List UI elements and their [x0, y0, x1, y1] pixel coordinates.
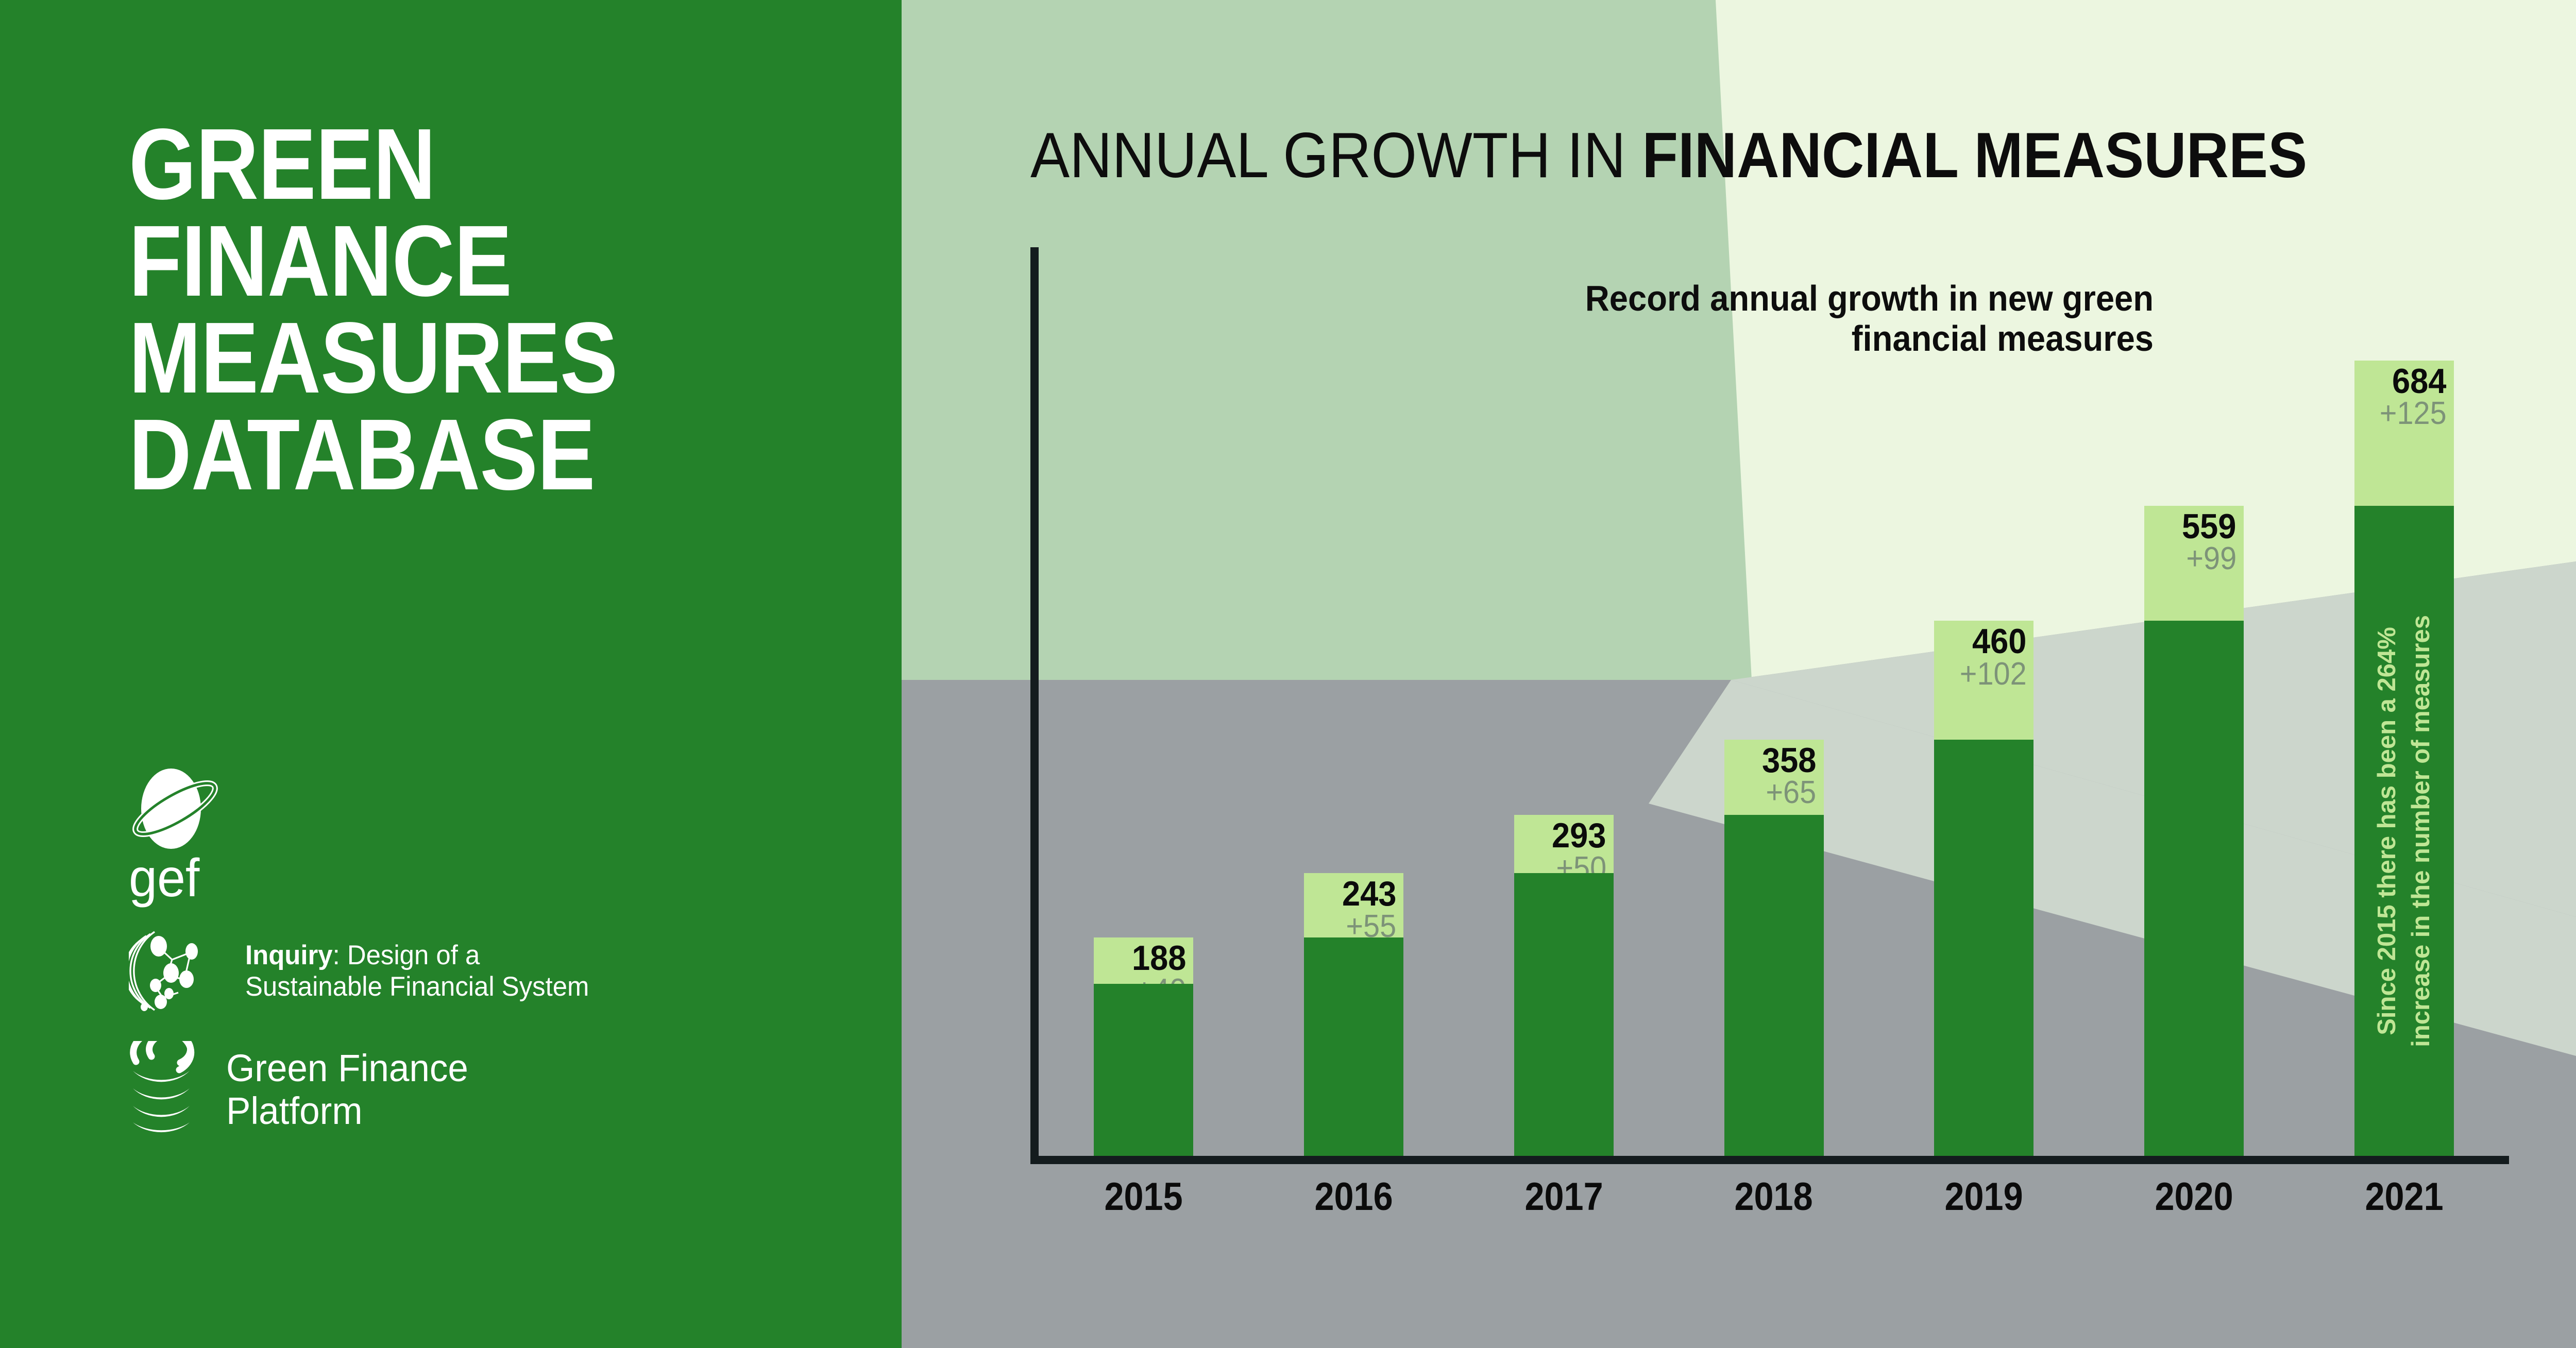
page-title: GREEN FINANCE MEASURES DATABASE: [129, 116, 793, 504]
bar-total-label-2017: 293: [1552, 819, 1606, 852]
x-tick-slot-2019: 2019: [1879, 1174, 2089, 1219]
bar-segment-base-2019: [1934, 740, 2033, 1156]
page-title-line-4: DATABASE: [129, 406, 793, 503]
bar-delta-label-2019: +102: [1959, 658, 2026, 690]
inquiry-logo: Inquiry: Design of a Sustainable Financi…: [129, 930, 850, 1012]
inquiry-rest: : Design of a: [333, 940, 480, 970]
bar-2020[interactable]: 559+99: [2144, 506, 2244, 1156]
green-finance-platform-logo: Green Finance Platform: [129, 1041, 850, 1139]
bar-segment-new-2017: 293+50: [1514, 815, 1614, 873]
bar-2017[interactable]: 293+50: [1514, 815, 1614, 1156]
stacked-leaves-icon: [129, 1041, 214, 1139]
bar-delta-label-2021: +125: [2380, 398, 2447, 430]
bar-slot-2021: 684+125Since 2015 there has been a 264% …: [2299, 272, 2509, 1156]
x-tick-slot-2015: 2015: [1039, 1174, 1249, 1219]
x-tick-label-2016: 2016: [1314, 1174, 1393, 1219]
page-title-line-2: FINANCE: [129, 213, 793, 310]
x-tick-slot-2021: 2021: [2299, 1174, 2509, 1219]
bar-2019[interactable]: 460+102: [1934, 621, 2033, 1156]
inquiry-wordmark: Inquiry: Design of a Sustainable Financi…: [245, 940, 589, 1003]
x-axis-line: [1030, 1156, 2509, 1164]
x-tick-slot-2018: 2018: [1669, 1174, 1879, 1219]
bar-slot-2015: 188+40: [1039, 272, 1249, 1156]
bar-segment-new-2016: 243+55: [1304, 873, 1403, 937]
x-tick-slot-2016: 2016: [1249, 1174, 1459, 1219]
bar-2021[interactable]: 684+125Since 2015 there has been a 264% …: [2354, 361, 2454, 1156]
headline-bold: FINANCIAL MEASURES: [1642, 120, 2307, 191]
bar-2016[interactable]: 243+55: [1304, 873, 1403, 1156]
bar-slot-2019: 460+102: [1879, 272, 2089, 1156]
bar-segment-base-2015: [1094, 984, 1193, 1156]
bar-slot-2020: 559+99: [2089, 272, 2299, 1156]
bar-segment-new-2018: 358+65: [1724, 740, 1824, 815]
x-tick-label-2018: 2018: [1735, 1174, 1813, 1219]
gfp-line-2: Platform: [226, 1090, 468, 1133]
bar-chart: 188+40243+55293+50358+65460+102559+99684…: [1030, 247, 2509, 1164]
bar-total-label-2021: 684: [2392, 365, 2447, 398]
network-nodes-icon: [129, 930, 232, 1012]
bar-segment-base-2020: [2144, 621, 2244, 1156]
page-title-line-1: GREEN: [129, 116, 793, 213]
x-tick-label-2015: 2015: [1105, 1174, 1183, 1219]
logo-stack: gef: [129, 757, 850, 1139]
bar-annotation-text: Since 2015 there has been a 264% increas…: [2370, 615, 2438, 1047]
bar-slot-2017: 293+50: [1459, 272, 1669, 1156]
chart-headline: ANNUAL GROWTH IN FINANCIAL MEASURES: [1030, 124, 2405, 187]
bar-delta-label-2018: +65: [1766, 777, 1817, 809]
bar-segment-new-2020: 559+99: [2144, 506, 2244, 621]
inquiry-line-2: Sustainable Financial System: [245, 971, 589, 1002]
bar-total-label-2020: 559: [2182, 510, 2236, 543]
chart-plot-area: 188+40243+55293+50358+65460+102559+99684…: [1039, 272, 2509, 1156]
bar-segment-base-2018: [1724, 815, 1824, 1156]
bar-slot-2016: 243+55: [1249, 272, 1459, 1156]
bar-delta-label-2020: +99: [2186, 543, 2236, 575]
bar-total-label-2016: 243: [1342, 877, 1397, 911]
gfp-wordmark: Green Finance Platform: [226, 1047, 468, 1133]
headline-light: ANNUAL GROWTH IN: [1030, 120, 1642, 191]
x-tick-label-2020: 2020: [2155, 1174, 2233, 1219]
bar-segment-new-2021: 684+125: [2354, 361, 2454, 506]
bar-segment-new-2015: 188+40: [1094, 937, 1193, 984]
bar-segment-base-2016: [1304, 937, 1403, 1156]
y-axis-line: [1030, 247, 1039, 1164]
bar-2018[interactable]: 358+65: [1724, 740, 1824, 1156]
gef-wordmark: gef: [129, 857, 814, 900]
bar-segment-base-2021: Since 2015 there has been a 264% increas…: [2354, 506, 2454, 1156]
x-tick-label-2019: 2019: [1945, 1174, 2023, 1219]
x-tick-slot-2020: 2020: [2089, 1174, 2299, 1219]
inquiry-line-1: Inquiry: Design of a: [245, 940, 589, 971]
bar-segment-base-2017: [1514, 873, 1614, 1156]
infographic-canvas: GREEN FINANCE MEASURES DATABASE gef: [0, 0, 2576, 1348]
bar-total-label-2015: 188: [1132, 942, 1187, 975]
x-axis-tick-labels: 2015201620172018201920202021: [1039, 1174, 2509, 1219]
gfp-line-1: Green Finance: [226, 1047, 468, 1090]
bar-segment-new-2019: 460+102: [1934, 621, 2033, 739]
x-tick-label-2017: 2017: [1524, 1174, 1603, 1219]
x-tick-label-2021: 2021: [2365, 1174, 2443, 1219]
bar-2015[interactable]: 188+40: [1094, 937, 1193, 1156]
gef-logo: gef: [129, 757, 850, 900]
brand-panel: GREEN FINANCE MEASURES DATABASE gef: [0, 0, 902, 1348]
bar-total-label-2018: 358: [1762, 744, 1817, 777]
page-title-line-3: MEASURES: [129, 310, 793, 406]
globe-orbit-icon: [129, 757, 222, 860]
inquiry-strong: Inquiry: [245, 940, 333, 970]
x-tick-slot-2017: 2017: [1459, 1174, 1669, 1219]
bar-slot-2018: 358+65: [1669, 272, 1879, 1156]
bar-total-label-2019: 460: [1972, 625, 2027, 658]
bar-annotation-2021: Since 2015 there has been a 264% increas…: [2354, 506, 2454, 1156]
